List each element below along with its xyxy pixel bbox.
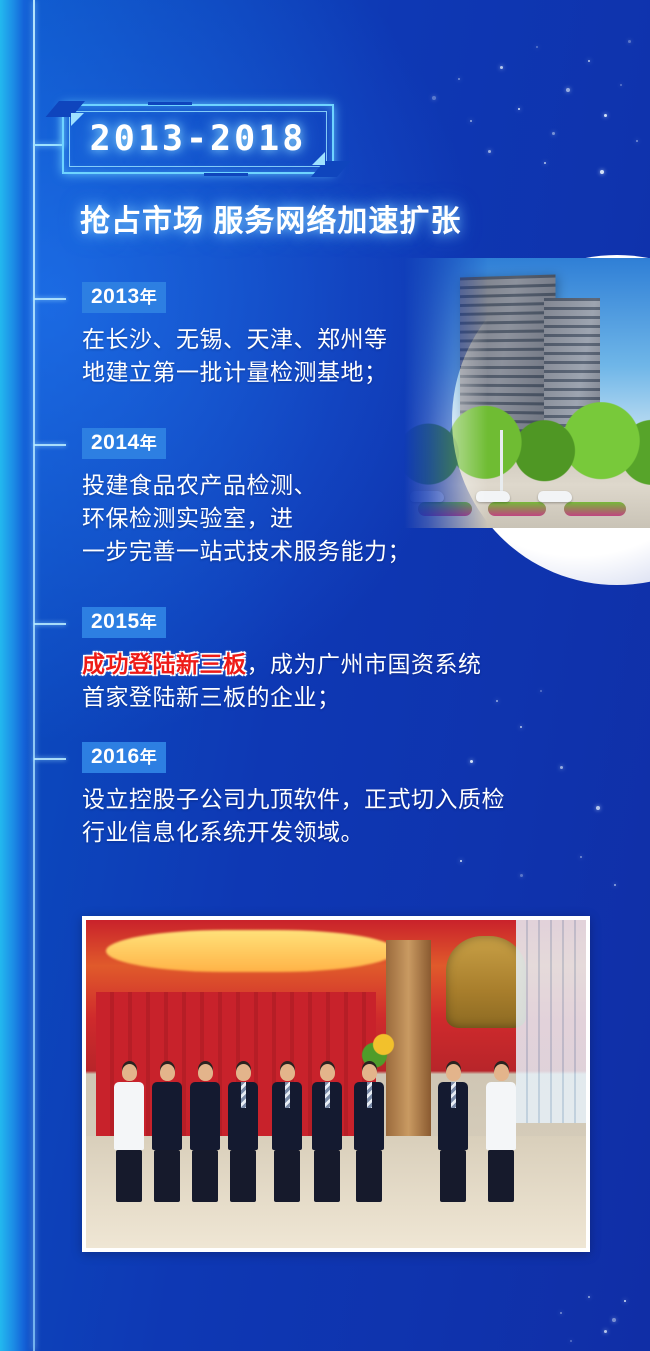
person-head — [320, 1064, 335, 1081]
ceremony-person — [228, 1064, 258, 1202]
person-tie — [367, 1082, 372, 1108]
timeline-entry-2013[interactable]: 2013年 在长沙、无锡、天津、郑州等 地建立第一批计量检测基地； — [82, 282, 388, 389]
ceremony-sun-mural — [106, 930, 396, 973]
ceremony-person — [486, 1064, 516, 1202]
person-body — [190, 1082, 220, 1150]
person-body — [312, 1082, 342, 1150]
timeline-tick — [34, 623, 66, 625]
person-body — [438, 1082, 468, 1150]
ceremony-flowers — [361, 1018, 406, 1070]
ceremony-person — [190, 1064, 220, 1202]
person-head — [198, 1064, 213, 1081]
person-tie — [325, 1082, 330, 1108]
year-suffix: 年 — [140, 613, 158, 632]
person-head — [280, 1064, 295, 1081]
person-body — [228, 1082, 258, 1150]
person-tie — [285, 1082, 290, 1108]
person-head — [362, 1064, 377, 1081]
year-value: 2015 — [91, 610, 140, 633]
timeline-entry-2016[interactable]: 2016年 设立控股子公司九顶软件，正式切入质检 行业信息化系统开发领域。 — [82, 742, 505, 849]
person-legs — [314, 1150, 340, 1202]
year-badge-2015: 2015年 — [82, 607, 166, 638]
year-suffix: 年 — [140, 434, 158, 453]
timeline-tick — [34, 758, 66, 760]
year-value: 2013 — [91, 285, 140, 308]
person-tie — [241, 1082, 246, 1108]
timeline-tick — [34, 298, 66, 300]
ceremony-person — [354, 1064, 384, 1202]
ceremony-person — [438, 1064, 468, 1202]
entry-highlight-2015: 成功登陆新三板 — [82, 651, 247, 677]
person-body — [272, 1082, 302, 1150]
person-head — [236, 1064, 251, 1081]
person-head — [494, 1064, 509, 1081]
person-legs — [154, 1150, 180, 1202]
year-value: 2014 — [91, 431, 140, 454]
person-body — [354, 1082, 384, 1150]
ceremony-person — [152, 1064, 182, 1202]
entry-body-2013: 在长沙、无锡、天津、郑州等 地建立第一批计量检测基地； — [82, 323, 388, 388]
ceremony-person — [272, 1064, 302, 1202]
year-badge-2013: 2013年 — [82, 282, 166, 313]
person-legs — [356, 1150, 382, 1202]
year-suffix: 年 — [140, 748, 158, 767]
person-body — [114, 1082, 144, 1150]
person-legs — [440, 1150, 466, 1202]
ceremony-bell — [446, 936, 526, 1028]
person-body — [152, 1082, 182, 1150]
timeline-entry-2015[interactable]: 2015年 成功登陆新三板，成为广州市国资系统 首家登陆新三板的企业； — [82, 607, 482, 714]
person-legs — [116, 1150, 142, 1202]
person-body — [486, 1082, 516, 1150]
ceremony-person — [114, 1064, 144, 1202]
entry-body-2014: 投建食品农产品检测、 环保检测实验室，进 一步完善一站式技术服务能力； — [82, 469, 411, 567]
year-suffix: 年 — [140, 288, 158, 307]
entry-body-2016: 设立控股子公司九顶软件，正式切入质检 行业信息化系统开发领域。 — [82, 783, 505, 848]
timeline-entry-2014[interactable]: 2014年 投建食品农产品检测、 环保检测实验室，进 一步完善一站式技术服务能力… — [82, 428, 411, 567]
ceremony-person — [312, 1064, 342, 1202]
year-value: 2016 — [91, 745, 140, 768]
group-photo-bell-ceremony — [82, 916, 590, 1252]
person-head — [160, 1064, 175, 1081]
entry-body-2015: 成功登陆新三板，成为广州市国资系统 首家登陆新三板的企业； — [82, 648, 482, 713]
timeline-tick — [34, 444, 66, 446]
ceremony-window — [516, 920, 586, 1123]
year-badge-2014: 2014年 — [82, 428, 166, 459]
year-badge-2016: 2016年 — [82, 742, 166, 773]
person-legs — [488, 1150, 514, 1202]
person-head — [122, 1064, 137, 1081]
person-legs — [192, 1150, 218, 1202]
person-tie — [451, 1082, 456, 1108]
person-legs — [274, 1150, 300, 1202]
person-head — [446, 1064, 461, 1081]
person-legs — [230, 1150, 256, 1202]
